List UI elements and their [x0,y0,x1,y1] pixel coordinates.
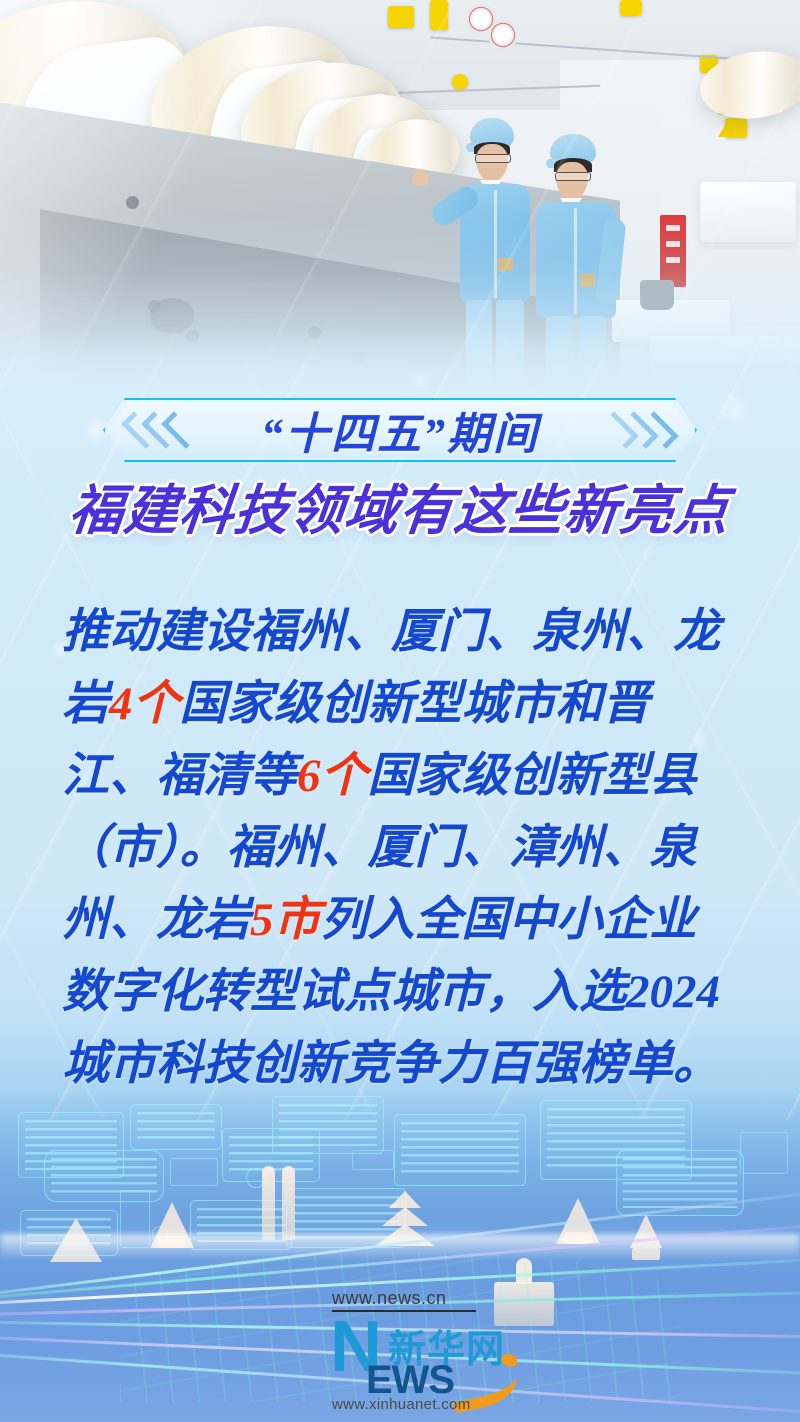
body-text-run: 城市科技创新竞争力百强榜单。 [62,1038,720,1090]
body-text-run: 江、福清等 [62,750,297,802]
wall-unit [700,182,796,242]
machine-bolt [186,330,199,343]
worker-trousers [496,300,524,386]
page-title: “十四五”期间 [103,398,697,462]
hud-panel [272,1096,384,1154]
machine-bolt [308,326,321,339]
body-line: （市）。福州、厦门、漳州、泉 [62,812,738,884]
worker-hand [412,170,429,186]
hud-small-panel [740,1132,788,1174]
body-line: 州、龙岩5市列入全国中小企业 [62,884,738,956]
worker-right [524,134,644,390]
body-paragraph: 推动建设福州、厦门、泉州、龙岩4个国家级创新型城市和晋江、福清等6个国家级创新型… [62,596,738,1100]
body-text-run: 数字化转型试点城市，入选2024 [62,966,720,1018]
worker-trousers [466,300,492,386]
worker-glasses [555,172,591,181]
ceiling-accent [620,0,642,16]
bucket [640,280,674,310]
logo-url-bottom: www.xinhuanet.com [332,1396,471,1413]
machine-port [150,298,194,334]
body-line: 岩4个国家级创新型城市和晋 [62,668,738,740]
hazard-warning-icon [718,122,736,137]
hud-panel [616,1150,744,1216]
logo-mark: N 新华网 EWS [330,1314,510,1392]
page-subtitle: 福建科技领域有这些新亮点 [0,470,800,540]
worker-shoe [462,382,494,390]
worker-placket [494,190,497,298]
body-line: 数字化转型试点城市，入选2024 [62,956,738,1028]
highlighted-number: 6个 [297,750,368,802]
emergency-control-panel [660,215,686,287]
body-line: 推动建设福州、厦门、泉州、龙 [62,596,738,668]
body-text-run: 州、龙岩 [62,894,250,946]
highlighted-number: 4个 [109,678,180,730]
xinhua-logo[interactable]: www.news.cn N 新华网 EWS www.xinhuanet.com [330,1288,510,1416]
storage-crate [650,336,800,390]
machine-bolt [352,352,365,365]
hud-panel [394,1114,526,1186]
body-text-run: 国家级创新型城市和晋 [180,678,650,730]
pulley-wheel [488,20,518,50]
photo-scene [0,0,800,390]
worker-face [476,144,508,182]
poster-root: “十四五”期间 福建科技领域有这些新亮点 推动建设福州、厦门、泉州、龙岩4个国家… [0,0,800,1422]
hud-small-panel [170,1158,218,1186]
hud-small-panel [352,1150,394,1170]
ceiling-accent [452,74,468,90]
worker-trousers [578,316,606,386]
body-text-run: （市）。福州、厦门、漳州、泉 [62,822,697,874]
highlighted-number: 5市 [250,894,321,946]
body-text-run: 岩 [62,678,109,730]
header-photo [0,0,800,390]
worker-glasses [475,154,511,163]
body-text-run: 推动建设福州、厦门、泉州、龙 [62,606,720,658]
worker-badge [498,258,513,271]
body-line: 江、福清等6个国家级创新型县 [62,740,738,812]
machine-bolt [126,196,139,209]
body-line: 城市科技创新竞争力百强榜单。 [62,1028,738,1100]
body-text-run: 列入全国中小企业 [321,894,697,946]
worker-placket [574,208,577,314]
worker-face [556,162,588,200]
hud-panel [130,1104,222,1150]
title-banner: “十四五”期间 [103,398,697,462]
worker-badge [580,274,595,287]
ceiling-accent [430,0,448,30]
worker-trousers [546,316,574,386]
ceiling-accent [388,6,414,28]
body-text-run: 国家级创新型县 [368,750,697,802]
